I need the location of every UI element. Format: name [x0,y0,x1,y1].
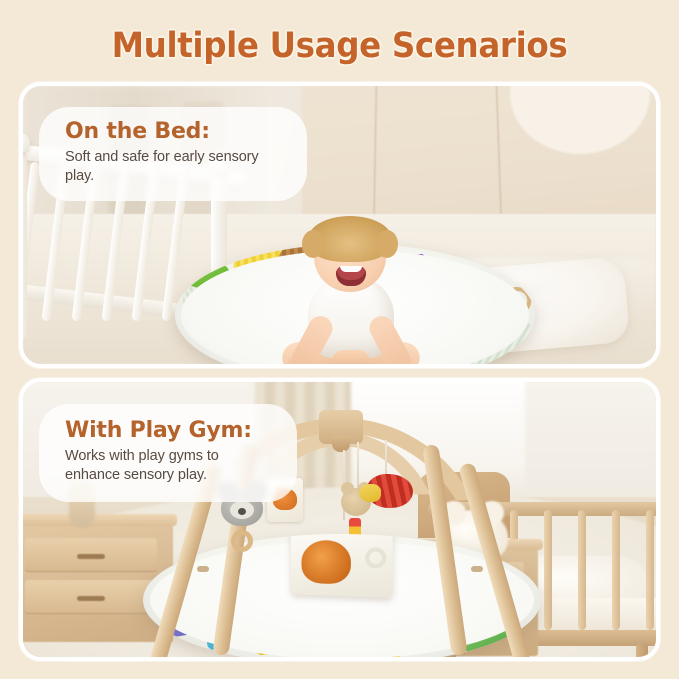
hedgehog-toy [367,474,413,508]
caption-heading: On the Bed: [65,120,285,144]
scenario-card-with-play-gym: With Play Gym: Works with play gyms to e… [19,378,660,661]
baby-figure [286,222,416,364]
arch-hub [319,410,363,444]
caption-pill-on-the-bed: On the Bed: Soft and safe for early sens… [39,107,307,201]
caption-body: Works with play gyms to enhance sensory … [65,447,275,486]
mirror-card [291,534,393,598]
page-title: Multiple Usage Scenarios [24,26,655,66]
caption-heading: With Play Gym: [65,419,275,443]
caption-pill-with-play-gym: With Play Gym: Works with play gyms to e… [39,404,297,502]
caption-body: Soft and safe for early sensory play. [65,148,285,187]
scenario-card-on-the-bed: On the Bed: Soft and safe for early sens… [19,82,660,368]
